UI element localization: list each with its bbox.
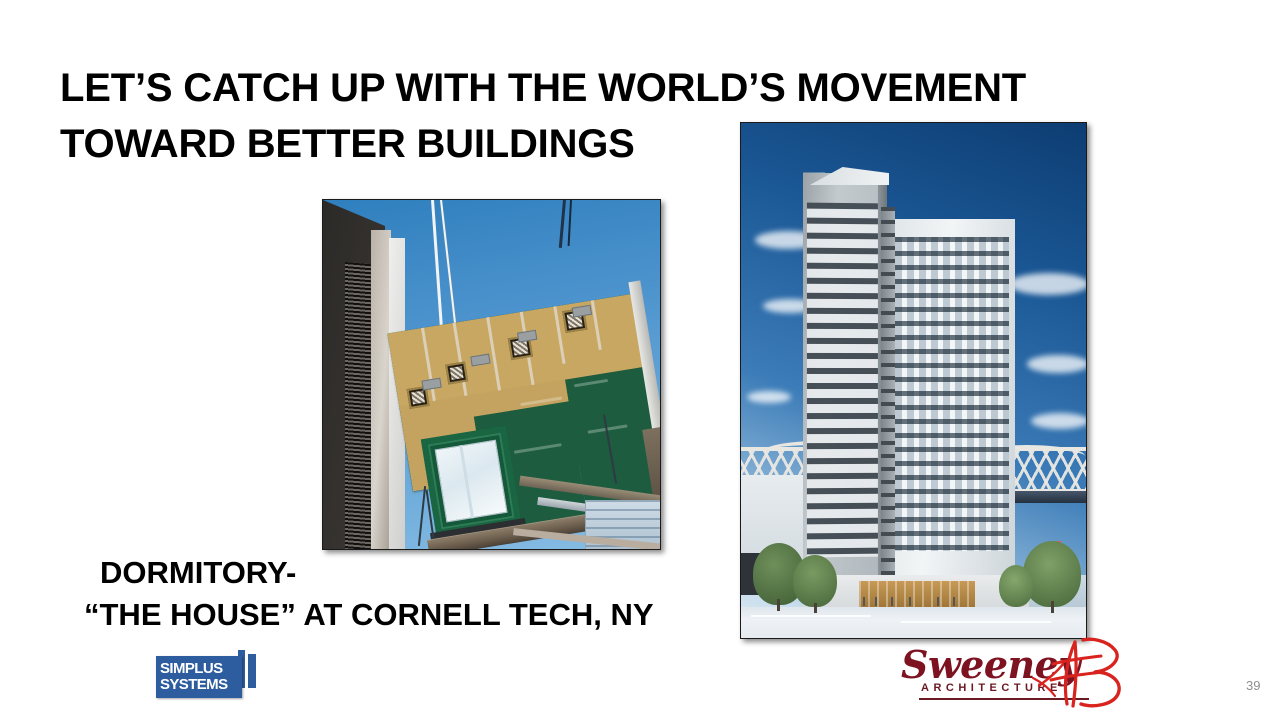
simplus-logo-text: SIMPLUS SYSTEMS [160,661,240,693]
tree [793,555,837,607]
title-line-1: LET’S CATCH UP WITH THE WORLD’S MOVEMENT [60,60,1070,116]
tower-window-grid [895,237,1009,551]
tower-floor-bands [807,203,883,558]
facade-louvers [345,262,371,550]
slide-number: 39 [1246,678,1260,693]
photo-tower [740,122,1087,639]
cloud [1027,355,1087,373]
hoisted-wall-panel [378,233,661,531]
image-caption: DORMITORY- “THE HOUSE” AT CORNELL TECH, … [100,552,720,636]
cloud [1031,413,1087,429]
cloud [747,391,791,403]
person [875,597,877,606]
caption-line-2: “THE HOUSE” AT CORNELL TECH, NY [84,594,720,636]
tree-trunk [777,599,780,611]
tree-trunk [1051,601,1054,613]
plaza-paving-line [751,615,871,617]
person [863,597,865,606]
person [953,597,955,606]
simplus-logo-line-2: SYSTEMS [160,677,240,693]
sweeney-signature-mark [1023,634,1131,710]
tree-trunk [814,603,817,613]
photo-panel-lift [322,199,661,550]
person [891,597,893,606]
simplus-systems-logo: SIMPLUS SYSTEMS [156,650,256,700]
person [937,597,939,606]
caption-line-1: DORMITORY- [100,552,720,594]
tower-wing-left [803,172,887,597]
plaza-paving-line [901,621,1051,623]
cloud [1009,273,1087,295]
tower-core-slot [881,207,895,597]
tree [1023,541,1081,607]
tree [999,565,1033,607]
panel-opening [445,361,468,384]
person [909,597,911,606]
slide: LET’S CATCH UP WITH THE WORLD’S MOVEMENT… [0,0,1280,720]
simplus-logo-line-1: SIMPLUS [160,661,240,677]
simplus-logo-box: SIMPLUS SYSTEMS [156,656,242,698]
panel-window [421,426,522,536]
sweeney-architecture-logo: Sweeney ARCHITECTURE [895,638,1130,710]
tower-wing-right [889,219,1015,597]
cornell-tech-tower [803,167,1015,597]
